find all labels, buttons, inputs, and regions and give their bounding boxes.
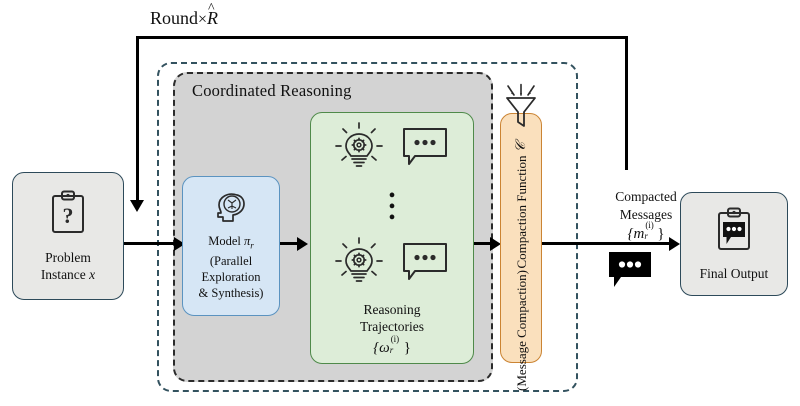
filled-speech-bubble-icon <box>607 250 653 295</box>
model-line-4: & Synthesis) <box>199 285 264 301</box>
final-output-label: Final Output <box>700 265 769 282</box>
trajectories-symbol: {ω r (i) } <box>360 337 424 357</box>
speech-bubble-icon-2 <box>401 241 449 288</box>
compaction-symbol: 𝒞 <box>514 142 529 152</box>
arrow-model-to-trajectories-head <box>297 237 308 251</box>
feedback-loop-left <box>136 36 139 202</box>
clipboard-chat-icon <box>712 206 756 259</box>
funnel-icon <box>503 83 539 136</box>
problem-line-1: Problem <box>41 249 95 266</box>
problem-line-2: Instance x <box>41 266 95 283</box>
svg-text:?: ? <box>63 203 74 228</box>
round-loop-text: Round×R^ <box>150 8 218 28</box>
model-line-1: Model πr <box>199 233 264 254</box>
lightbulb-gear-icon-2 <box>335 237 383 292</box>
model-line-3: Exploration <box>199 269 264 285</box>
vertical-ellipsis-icon: ••• <box>388 189 395 225</box>
brain-head-icon <box>214 191 248 228</box>
trajectories-line-1: Reasoning <box>360 301 424 318</box>
coordinated-reasoning-title: Coordinated Reasoning <box>192 78 452 104</box>
feedback-loop-top <box>136 36 628 39</box>
node-model[interactable]: Model πr (Parallel Exploration & Synthes… <box>182 176 280 316</box>
compaction-vertical-text-2: (Message Compaction) <box>513 270 530 391</box>
node-reasoning-trajectories[interactable]: ••• <box>310 112 474 364</box>
node-problem-instance[interactable]: ? Problem Instance x <box>12 172 124 300</box>
feedback-loop-arrowhead <box>130 200 144 212</box>
feedback-loop-right <box>625 36 628 170</box>
diagram-canvas: Round×R^ Coordinated Reasoning ? Problem… <box>0 0 800 406</box>
speech-bubble-icon <box>401 126 449 173</box>
model-symbol-sub: r <box>250 240 254 250</box>
compaction-line-1: Compaction Function 𝒞 <box>513 142 530 269</box>
problem-symbol: x <box>89 267 95 282</box>
lightbulb-gear-icon <box>335 122 383 177</box>
model-line-2: (Parallel <box>199 253 264 269</box>
compaction-line-2: (Message Compaction) <box>514 270 529 391</box>
arrow-problem-to-model <box>124 242 178 245</box>
node-final-output[interactable]: Final Output <box>680 192 788 296</box>
node-compaction-function[interactable]: Compaction Function 𝒞 (Message Compactio… <box>500 113 542 363</box>
compaction-vertical-text: Compaction Function 𝒞 <box>513 142 530 269</box>
clipboard-question-icon: ? <box>47 190 89 241</box>
round-loop-label: Round×R^ <box>150 4 370 32</box>
